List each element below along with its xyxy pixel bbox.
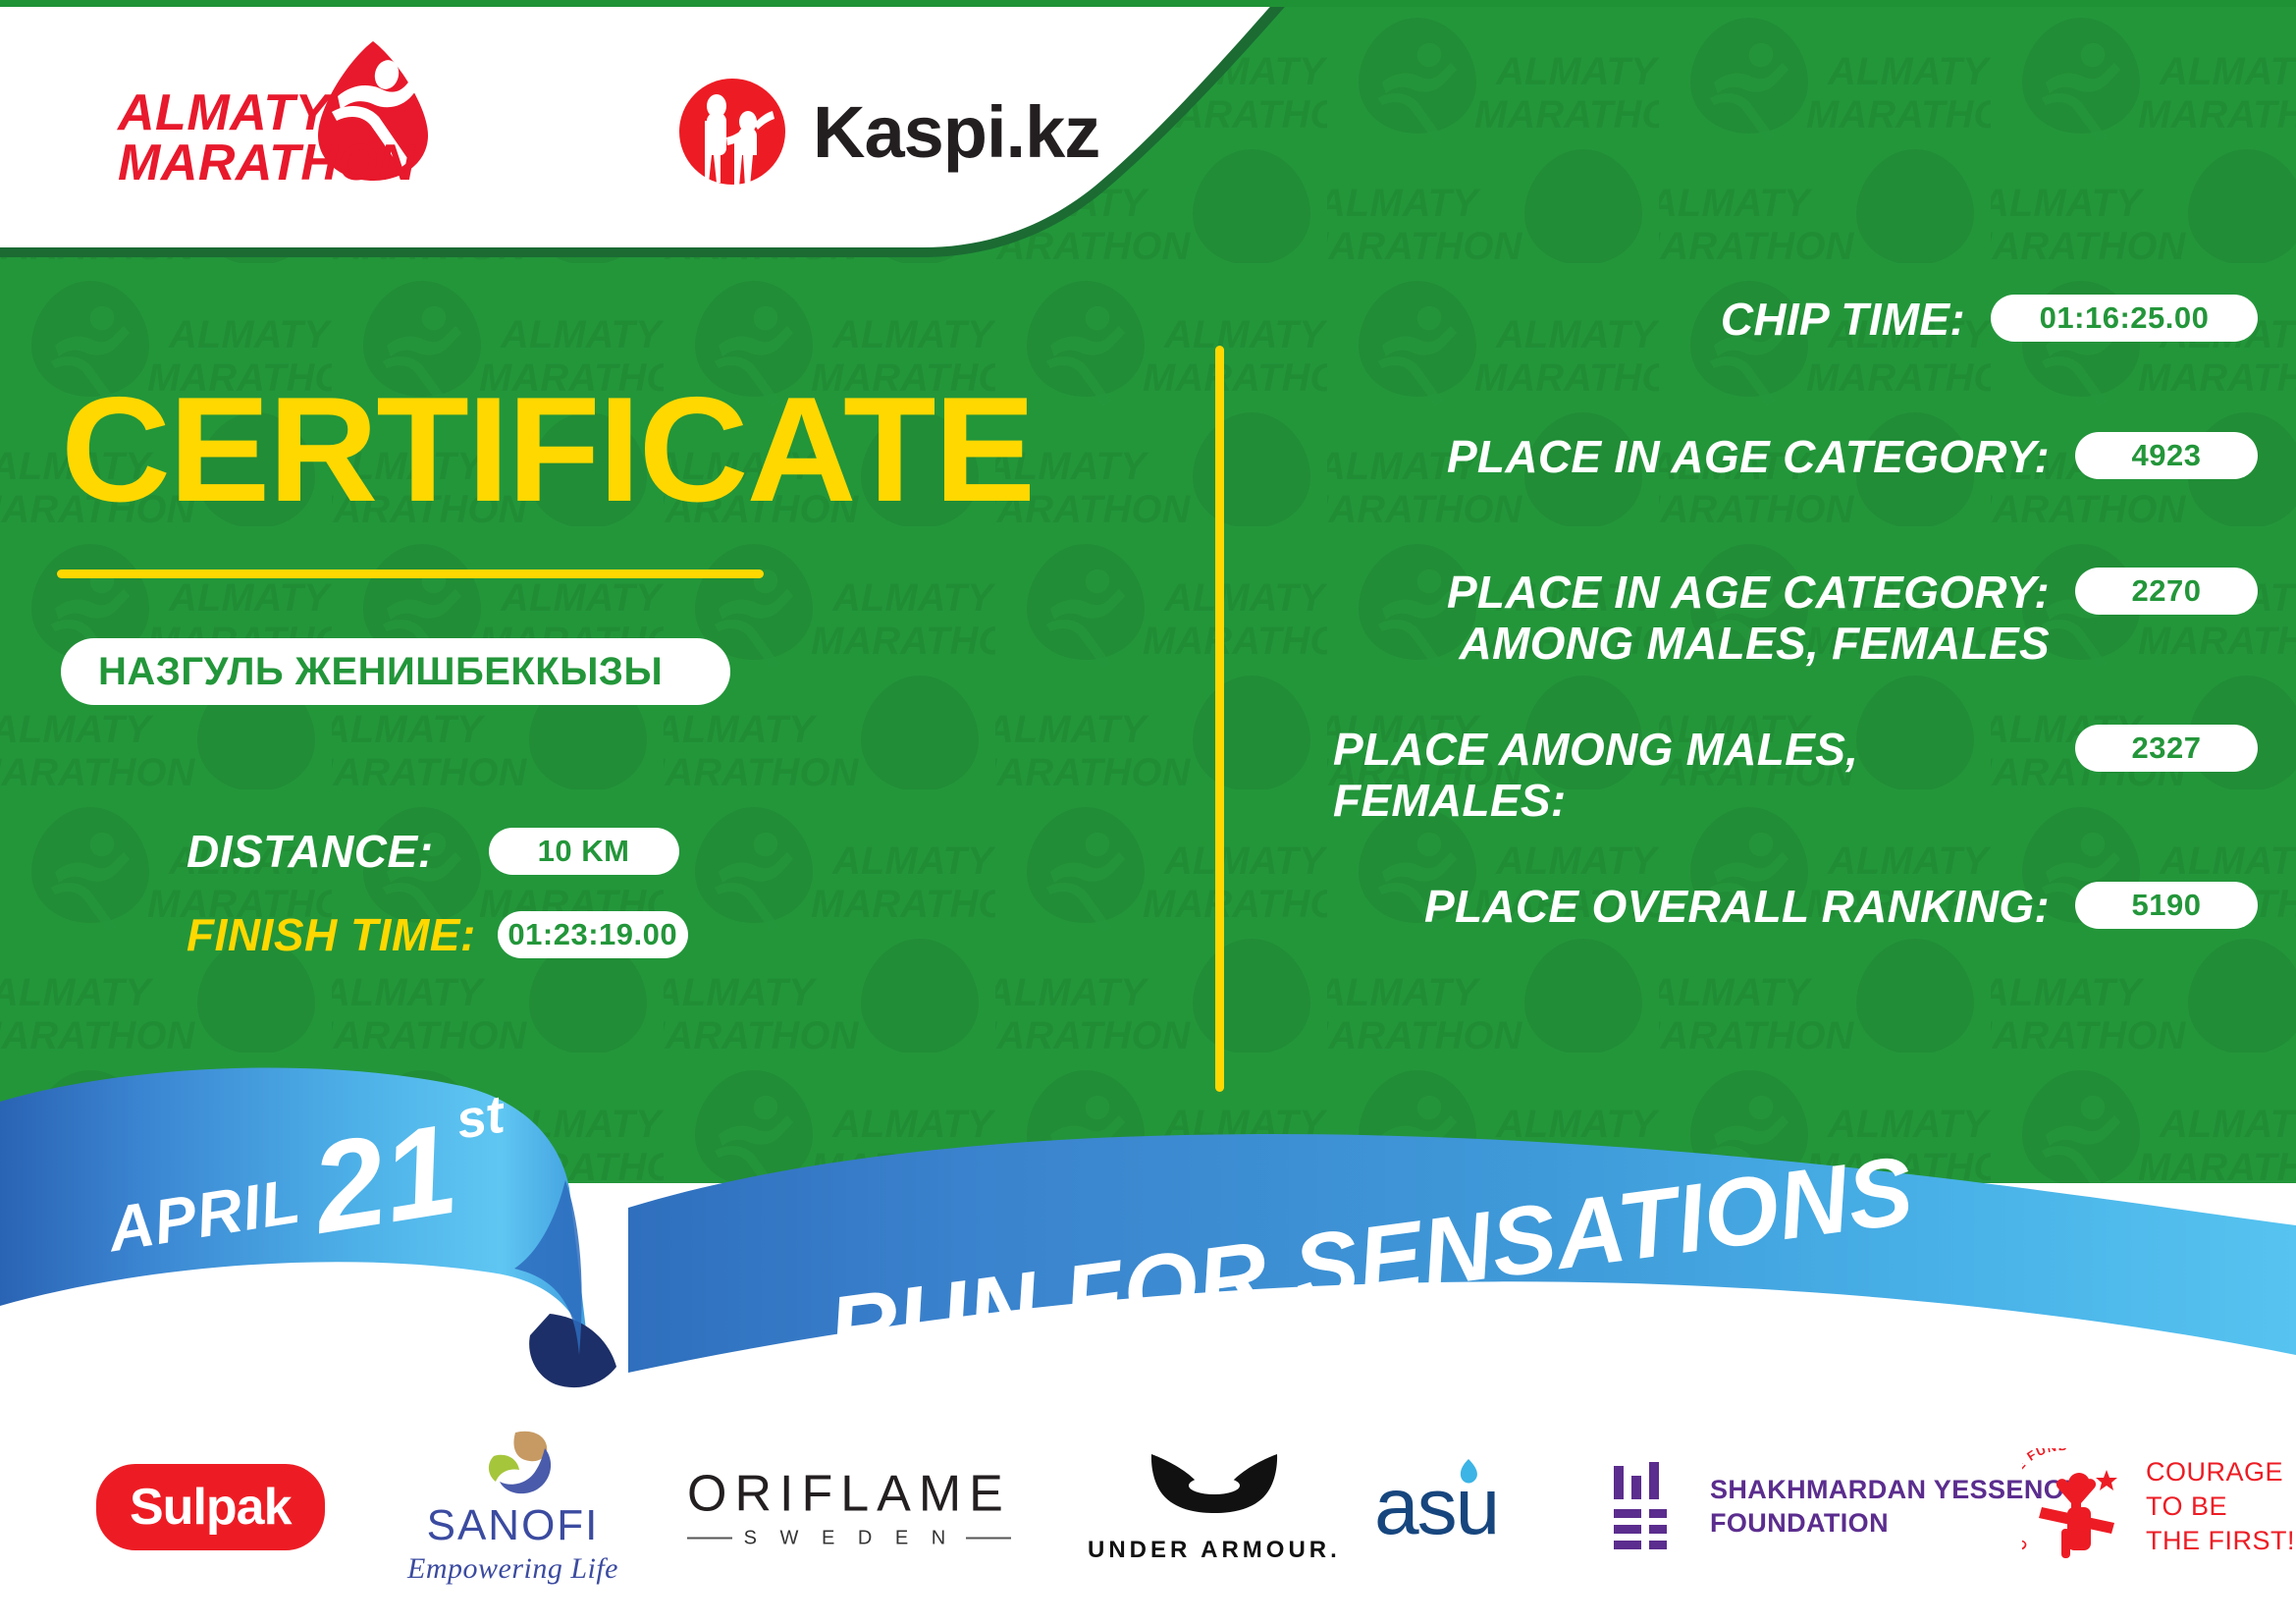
place-age-gender-value: 2270 — [2075, 568, 2258, 615]
result-row-place-age-gender: PLACE IN AGE CATEGORY:AMONG MALES, FEMAL… — [1276, 568, 2258, 669]
place-age-label: PLACE IN AGE CATEGORY: — [1276, 432, 2075, 483]
sponsor-asu: asu — [1374, 1461, 1498, 1553]
sponsor-sanofi: SANOFI Empowering Life — [407, 1429, 618, 1586]
courage-line-1: COURAGE — [2146, 1455, 2295, 1489]
courage-wordmark: COURAGE TO BE THE FIRST! — [2146, 1455, 2295, 1558]
sponsor-under-armour: UNDER ARMOUR. — [1088, 1450, 1341, 1564]
almaty-line: ALMATY — [118, 88, 415, 138]
distance-label: DISTANCE: — [187, 825, 434, 878]
left-column: CERTIFICATE НАЗГУЛЬ ЖЕНИШБЕККЫЗЫ DISTANC… — [0, 295, 1217, 1178]
result-row-chip-time: CHIP TIME: 01:16:25.00 — [1276, 295, 2258, 346]
certificate-canvas: ALMATY MARATHON ALMATY MARATHON — [0, 0, 2296, 1624]
distance-value: 10 KM — [489, 828, 679, 875]
almaty-marathon-logo: ALMATY MARATHON — [118, 47, 432, 209]
place-gender-value: 2327 — [2075, 725, 2258, 772]
result-row-place-age: PLACE IN AGE CATEGORY: 4923 — [1276, 432, 2258, 483]
oriflame-tagline: S W E D E N — [744, 1527, 955, 1549]
yessenov-mark-icon — [1610, 1462, 1684, 1552]
header-logos: ALMATY MARATHON Kaspi.kz — [0, 0, 1178, 285]
sponsor-sulpak: Sulpak — [96, 1464, 325, 1550]
overall-rank-label: PLACE OVERALL RANKING: — [1276, 882, 2075, 933]
result-row-overall: PLACE OVERALL RANKING: 5190 — [1276, 882, 2258, 933]
event-day: 21 — [305, 1114, 462, 1245]
participant-name-field: НАЗГУЛЬ ЖЕНИШБЕККЫЗЫ — [61, 638, 730, 705]
title-underline — [57, 569, 764, 578]
chip-time-label: CHIP TIME: — [1276, 295, 1991, 346]
finish-time-label: FINISH TIME: — [187, 908, 476, 961]
kaspi-people-icon — [677, 77, 787, 187]
page-title: CERTIFICATE — [61, 375, 1034, 524]
kaspi-wordmark: Kaspi.kz — [813, 90, 1099, 174]
chip-time-value: 01:16:25.00 — [1991, 295, 2258, 342]
under-armour-wordmark: UNDER ARMOUR. — [1088, 1537, 1341, 1564]
results-column: CHIP TIME: 01:16:25.00 PLACE IN AGE CATE… — [1276, 295, 2296, 1178]
overall-rank-value: 5190 — [2075, 882, 2258, 929]
almaty-marathon-wordmark: ALMATY MARATHON — [118, 88, 415, 189]
oriflame-wordmark: ORIFLAME — [687, 1464, 1011, 1523]
sponsor-yessenov-foundation: SHAKHMARDAN YESSENOV FOUNDATION — [1610, 1462, 2083, 1552]
sanofi-wordmark: SANOFI — [427, 1501, 600, 1550]
courage-line-3: THE FIRST! — [2146, 1524, 2295, 1558]
sanofi-mark-icon — [466, 1429, 561, 1499]
column-divider — [1215, 346, 1224, 1092]
top-accent-rule — [0, 0, 2296, 7]
sulpak-wordmark: Sulpak — [96, 1464, 325, 1550]
oriflame-rule-left — [687, 1538, 732, 1540]
finish-time-value: 01:23:19.00 — [498, 911, 688, 958]
oriflame-sub: S W E D E N — [687, 1527, 1011, 1549]
kaspi-logo: Kaspi.kz — [677, 77, 1099, 187]
finish-time-row: FINISH TIME: 01:23:19.00 — [187, 908, 688, 961]
sponsor-oriflame: ORIFLAME S W E D E N — [687, 1464, 1011, 1549]
distance-row: DISTANCE: 10 KM — [187, 825, 679, 878]
result-row-place-gender: PLACE AMONG MALES,FEMALES: 2327 — [1276, 725, 2258, 826]
under-armour-icon — [1146, 1450, 1283, 1531]
courage-child-icon: CORPORATE FUND — [2022, 1448, 2132, 1566]
place-age-value: 4923 — [2075, 432, 2258, 479]
marathon-line: MARATHON — [118, 138, 415, 189]
asu-wordmark: asu — [1374, 1461, 1498, 1553]
sponsor-footer: Sulpak SANOFI Empowering Life ORIFLAME S… — [0, 1389, 2296, 1624]
participant-name-value: НАЗГУЛЬ ЖЕНИШБЕККЫЗЫ — [61, 650, 663, 694]
oriflame-rule-right — [966, 1538, 1011, 1540]
place-age-gender-label: PLACE IN AGE CATEGORY:AMONG MALES, FEMAL… — [1276, 568, 2075, 669]
sanofi-tagline: Empowering Life — [407, 1552, 618, 1586]
place-gender-label: PLACE AMONG MALES,FEMALES: — [1276, 725, 2075, 826]
courage-line-2: TO BE — [2146, 1489, 2295, 1524]
sponsor-courage-fund: CORPORATE FUND COURAGE TO BE THE FIRST! — [2022, 1448, 2295, 1566]
